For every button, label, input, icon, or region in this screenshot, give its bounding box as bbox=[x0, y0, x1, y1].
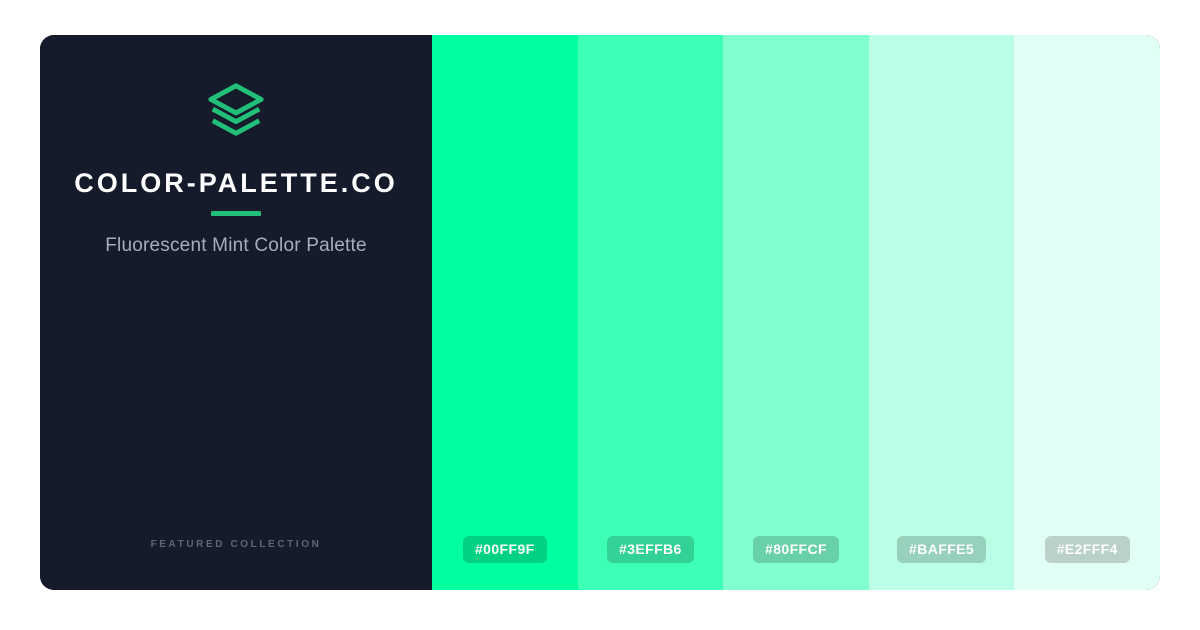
color-swatch[interactable]: #E2FFF4 bbox=[1014, 35, 1160, 590]
featured-collection-label: FEATURED COLLECTION bbox=[40, 539, 432, 550]
palette-name: Fluorescent Mint Color Palette bbox=[105, 235, 367, 257]
swatch-hex-badge[interactable]: #E2FFF4 bbox=[1045, 536, 1130, 563]
layers-icon bbox=[205, 80, 267, 142]
color-swatch[interactable]: #80FFCF bbox=[723, 35, 869, 590]
swatch-hex-badge[interactable]: #BAFFE5 bbox=[897, 536, 986, 563]
swatch-hex-badge[interactable]: #00FF9F bbox=[463, 536, 547, 563]
title-underline-rule bbox=[211, 211, 261, 216]
swatch-strip: #00FF9F #3EFFB6 #80FFCF #BAFFE5 #E2FFF4 bbox=[432, 35, 1160, 590]
color-swatch[interactable]: #BAFFE5 bbox=[869, 35, 1015, 590]
brand-title: COLOR-PALETTE.CO bbox=[74, 170, 397, 197]
palette-poster: COLOR-PALETTE.CO Fluorescent Mint Color … bbox=[0, 0, 1200, 630]
color-swatch[interactable]: #3EFFB6 bbox=[578, 35, 724, 590]
info-panel: COLOR-PALETTE.CO Fluorescent Mint Color … bbox=[40, 35, 432, 590]
palette-card: COLOR-PALETTE.CO Fluorescent Mint Color … bbox=[40, 35, 1160, 590]
swatch-hex-badge[interactable]: #80FFCF bbox=[753, 536, 839, 563]
color-swatch[interactable]: #00FF9F bbox=[432, 35, 578, 590]
swatch-hex-badge[interactable]: #3EFFB6 bbox=[607, 536, 694, 563]
